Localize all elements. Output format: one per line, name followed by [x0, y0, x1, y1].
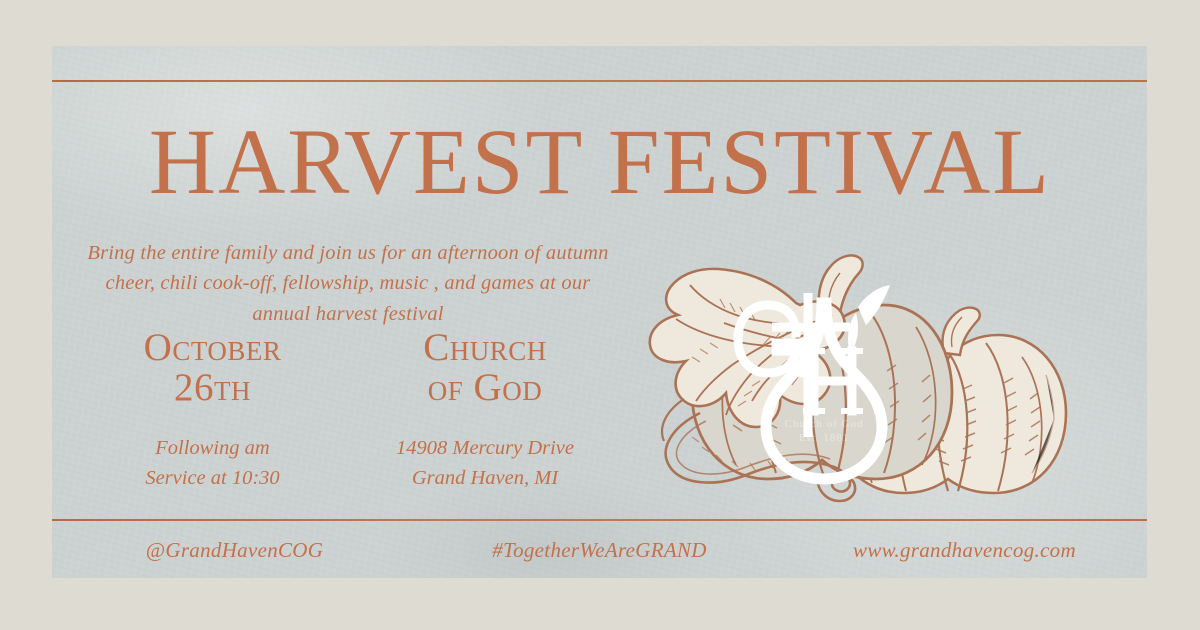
pumpkin-illustration: Church of God Est. 1881 [600, 175, 1120, 505]
org-name-line2: of God [345, 368, 625, 408]
date-column: October 26th Following am Service at 10:… [80, 328, 345, 494]
footer-bar: @GrandHavenCOG #TogetherWeAreGRAND www.g… [52, 525, 1147, 575]
address-line2: Grand Haven, MI [345, 464, 625, 494]
svg-text:Church of God: Church of God [785, 418, 864, 430]
hashtag: #TogetherWeAreGRAND [417, 538, 782, 563]
event-description: Bring the entire family and join us for … [78, 238, 618, 329]
organization-column: Church of God 14908 Mercury Drive Grand … [345, 328, 625, 494]
event-time-line1: Following am [80, 434, 345, 464]
page-title: HARVEST FESTIVAL [0, 116, 1200, 209]
address-line1: 14908 Mercury Drive [345, 434, 625, 464]
divider-top [52, 80, 1147, 82]
info-columns: October 26th Following am Service at 10:… [80, 328, 625, 494]
event-time-line2: Service at 10:30 [80, 464, 345, 494]
event-day: 26th [80, 368, 345, 408]
divider-bottom [52, 519, 1147, 521]
svg-text:Est. 1881: Est. 1881 [799, 432, 850, 444]
poster-canvas: Church of God Est. 1881 HARVEST FESTIVAL… [0, 0, 1200, 630]
org-name-line1: Church [345, 328, 625, 368]
event-month: October [80, 328, 345, 368]
website-url[interactable]: www.grandhavencog.com [782, 538, 1147, 563]
social-handle: @GrandHavenCOG [52, 538, 417, 563]
